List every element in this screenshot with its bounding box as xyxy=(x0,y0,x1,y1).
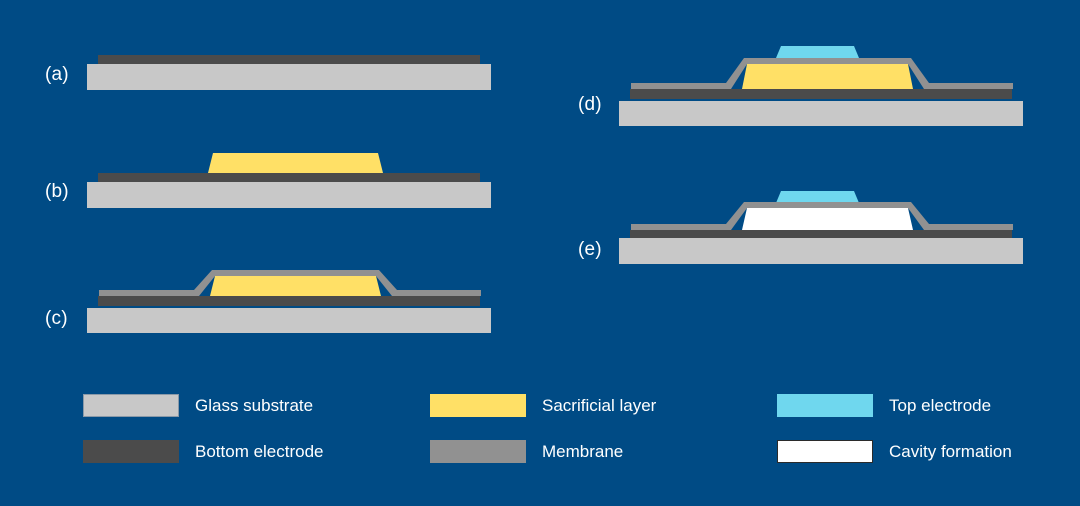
panel-label-e: (e) xyxy=(578,239,602,261)
panel-a-glass-substrate xyxy=(87,64,491,90)
panel-d-sacrificial-layer xyxy=(742,64,913,89)
legend-swatch-glass-substrate xyxy=(83,394,179,417)
panel-b-graphic xyxy=(87,153,491,208)
legend-label-bottom-electrode: Bottom electrode xyxy=(195,442,324,462)
legend-label-top-electrode: Top electrode xyxy=(889,396,991,416)
process-diagram xyxy=(0,0,1080,506)
panel-label-c: (c) xyxy=(45,308,68,330)
legend-item-cavity-formation: Cavity formation xyxy=(777,440,1012,463)
panel-label-a: (a) xyxy=(45,64,69,86)
panel-d-glass-substrate xyxy=(619,101,1023,126)
panel-e-top-electrode xyxy=(776,191,859,203)
panel-b-glass-substrate xyxy=(87,182,491,208)
legend-item-sacrificial-layer: Sacrificial layer xyxy=(430,394,656,417)
panel-c-graphic xyxy=(87,270,491,333)
panel-c-glass-substrate xyxy=(87,308,491,333)
panel-a-graphic xyxy=(87,55,491,90)
legend-swatch-membrane xyxy=(430,440,526,463)
panel-e-cavity xyxy=(742,208,913,230)
panel-e-glass-substrate xyxy=(619,238,1023,264)
legend-label-sacrificial-layer: Sacrificial layer xyxy=(542,396,656,416)
legend-label-glass-substrate: Glass substrate xyxy=(195,396,313,416)
legend-label-cavity-formation: Cavity formation xyxy=(889,442,1012,462)
panel-b-sacrificial-layer xyxy=(208,153,383,173)
panel-d-bottom-electrode xyxy=(630,89,1012,99)
legend-swatch-cavity-formation xyxy=(777,440,873,463)
panel-d-top-electrode xyxy=(776,46,859,58)
legend-label-membrane: Membrane xyxy=(542,442,623,462)
figure-canvas: (a) (b) (c) (d) (e) Glass substrate Bott… xyxy=(0,0,1080,506)
legend-item-top-electrode: Top electrode xyxy=(777,394,991,417)
legend-item-glass-substrate: Glass substrate xyxy=(83,394,313,417)
panel-label-b: (b) xyxy=(45,181,69,203)
panel-label-d: (d) xyxy=(578,94,602,116)
panel-c-sacrificial-layer xyxy=(210,276,381,296)
panel-d-graphic xyxy=(619,46,1023,126)
panel-b-bottom-electrode xyxy=(98,173,480,182)
legend-swatch-sacrificial-layer xyxy=(430,394,526,417)
legend-swatch-bottom-electrode xyxy=(83,440,179,463)
panel-e-graphic xyxy=(619,191,1023,264)
legend-swatch-top-electrode xyxy=(777,394,873,417)
panel-a-bottom-electrode xyxy=(98,55,480,64)
panel-c-bottom-electrode xyxy=(98,296,480,306)
legend-item-bottom-electrode: Bottom electrode xyxy=(83,440,324,463)
legend-item-membrane: Membrane xyxy=(430,440,623,463)
